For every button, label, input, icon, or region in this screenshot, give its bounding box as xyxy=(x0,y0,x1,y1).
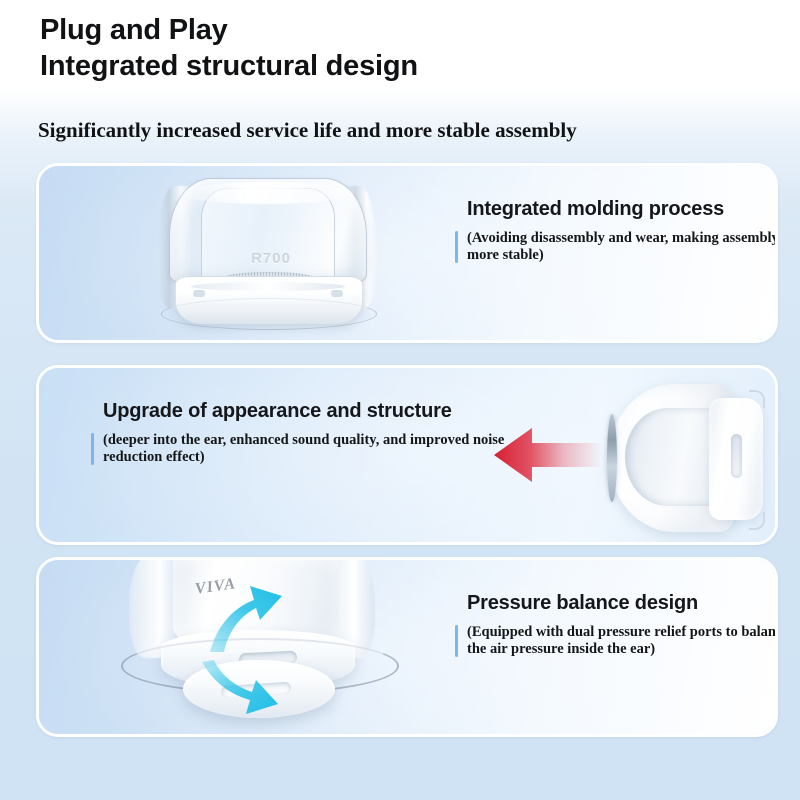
accent-bar xyxy=(455,625,458,657)
tip-emboss-text: R700 xyxy=(211,250,331,267)
tip-hook-bottom xyxy=(749,512,765,530)
card-title: Upgrade of appearance and structure xyxy=(103,398,511,424)
tip-vent-slot xyxy=(731,434,742,478)
card-text-block: Pressure balance design (Equipped with d… xyxy=(455,590,778,658)
card-description-row: (Equipped with dual pressure relief port… xyxy=(455,624,778,658)
feature-card-pressure-balance: VIVA Pressure balance design (Equipped w… xyxy=(36,557,778,737)
card-description: (Avoiding disassembly and wear, making a… xyxy=(467,230,778,264)
tip-highlight xyxy=(179,182,355,204)
card-description-row: (deeper into the ear, enhanced sound qua… xyxy=(91,432,511,466)
accent-bar xyxy=(91,433,94,465)
headline-line-1: Plug and Play xyxy=(40,12,760,48)
red-arrow-left-icon xyxy=(492,424,600,486)
page-header: Plug and Play Integrated structural desi… xyxy=(40,12,760,84)
card-description: (Equipped with dual pressure relief port… xyxy=(467,624,778,658)
card-text-block: Integrated molding process (Avoiding dis… xyxy=(455,196,778,264)
base-seal-ring xyxy=(161,298,377,330)
base-lip xyxy=(191,282,345,291)
product-image-flared-ear-tip xyxy=(599,372,778,544)
product-image-translucent-ear-tip: R700 xyxy=(117,172,417,340)
tip-bore xyxy=(625,408,717,506)
page-subtitle: Significantly increased service life and… xyxy=(38,117,577,143)
feature-card-integrated-molding: R700 Integrated molding process (Avoidin… xyxy=(36,163,778,343)
headline-line-2: Integrated structural design xyxy=(40,48,760,84)
base-tab-left xyxy=(193,290,205,297)
feature-card-appearance-structure: Upgrade of appearance and structure (dee… xyxy=(36,365,778,545)
tip-hook-top xyxy=(749,390,765,408)
tip-front-rim xyxy=(607,414,617,502)
base-tab-right xyxy=(331,290,343,297)
card-description: (deeper into the ear, enhanced sound qua… xyxy=(103,432,511,466)
cyan-arrow-upper-icon xyxy=(206,582,286,656)
card-description-row: (Avoiding disassembly and wear, making a… xyxy=(455,230,778,264)
card-title: Integrated molding process xyxy=(467,196,778,222)
card-text-block: Upgrade of appearance and structure (dee… xyxy=(91,398,511,466)
card-title: Pressure balance design xyxy=(467,590,778,616)
accent-bar xyxy=(455,231,458,263)
cyan-arrow-lower-icon xyxy=(200,658,282,722)
